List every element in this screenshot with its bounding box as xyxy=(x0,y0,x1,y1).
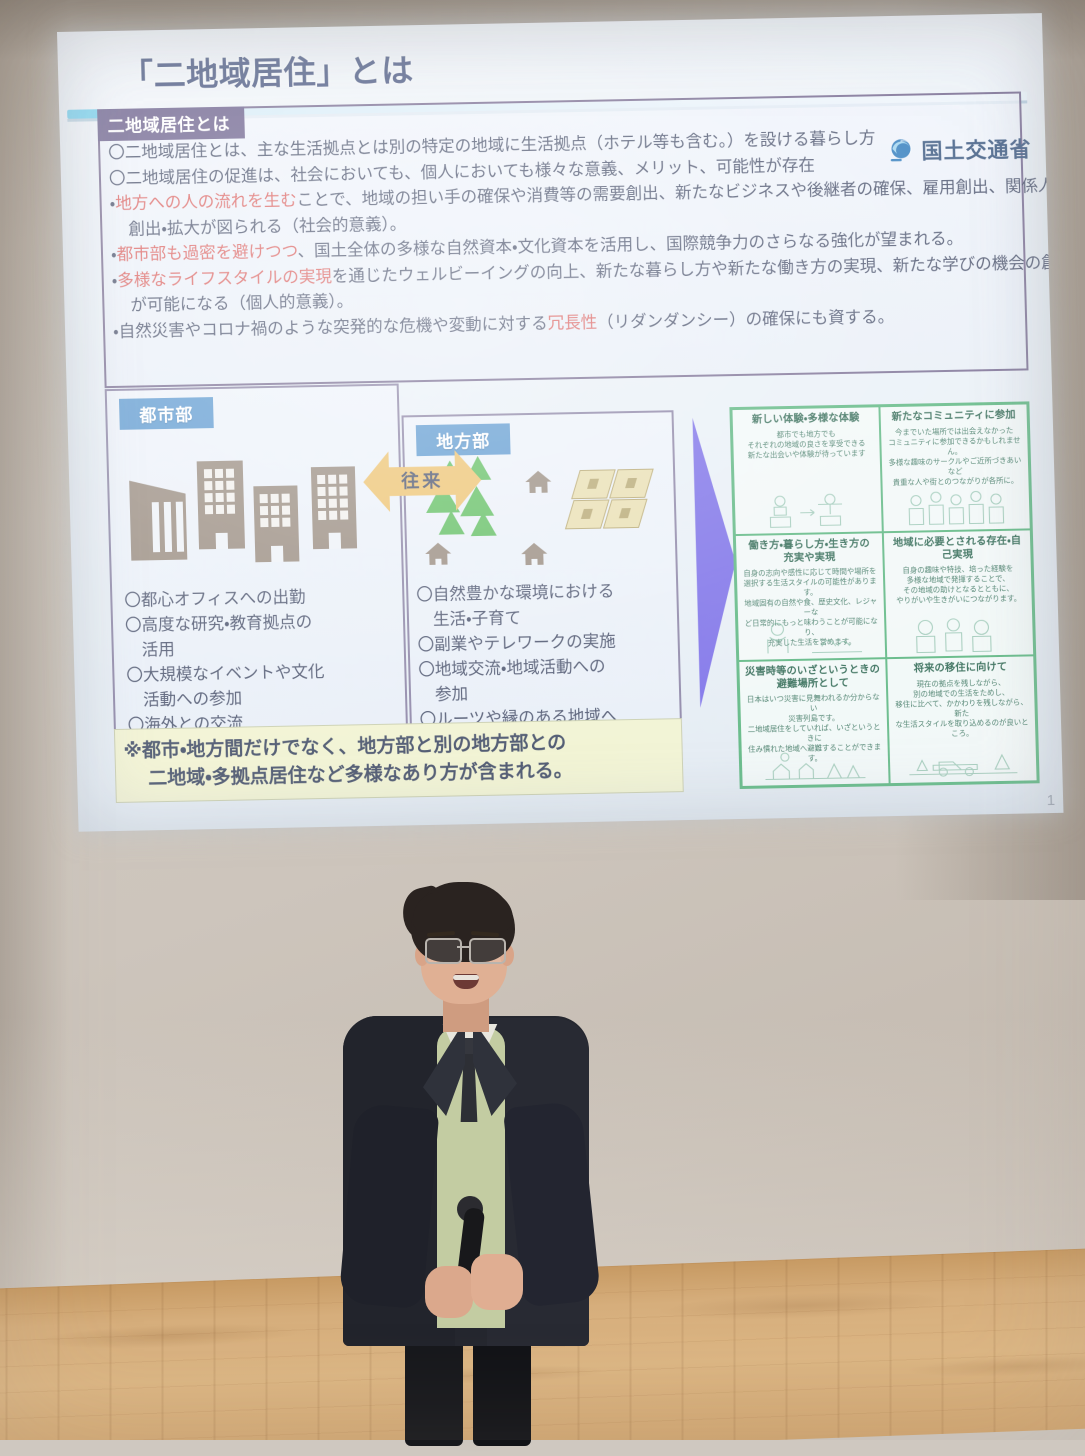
hand-left xyxy=(425,1266,473,1318)
benefit-cell-title: 地域に必要とされる存在・自己実現 xyxy=(888,535,1027,563)
hair-fringe xyxy=(413,892,513,932)
benefit-cell-body: 都市でも地方でもそれぞれの地域の良さを享受できる新たな出会いや体験が待っています xyxy=(737,428,876,461)
benefits-grid: 新しい体験・多様な体験都市でも地方でもそれぞれの地域の良さを享受できる新たな出会… xyxy=(729,401,1039,789)
car-countryside-icon xyxy=(889,738,1036,781)
benefit-cell-title: 新たなコミュニティに参加 xyxy=(885,410,1023,425)
definition-box-body: 〇二地域居住とは、主な生活拠点とは別の特定の地域に生活拠点（ホテル等も含む。）を… xyxy=(108,124,1018,345)
house-icon xyxy=(425,543,452,565)
ministry-name: 国土交通省 xyxy=(921,133,1032,165)
person-relaxing-icon xyxy=(738,615,885,658)
benefit-cell: 災害時等のいざというときの避難場所として日本はいつ災害に見舞われるか分からない災… xyxy=(738,658,889,787)
two-people-desk-icon xyxy=(735,489,882,532)
presenter-figure xyxy=(325,876,625,1436)
benefit-cell: 新たなコミュニティに参加今までいた場所では出会えなかったコミュニティに参加できる… xyxy=(879,403,1030,532)
highlighted-phrase: 地方への人の流れを生む xyxy=(115,191,297,212)
group-of-people-icon xyxy=(883,486,1030,529)
benefit-cell: 新しい体験・多様な体験都市でも地方でもそれぞれの地域の良さを享受できる新たな出会… xyxy=(731,406,882,535)
benefit-cell: 働き方・暮らし方・生き方の充実や実現自身の志向や感性に応じて時間や場所を選択する… xyxy=(735,532,886,661)
exchange-arrow: 往来 xyxy=(362,444,482,518)
page-number: 1 xyxy=(1047,792,1056,809)
benefit-cell-title: 新しい体験・多様な体験 xyxy=(737,412,875,427)
highlighted-phrase: 多様なライフスタイルの実現 xyxy=(117,267,332,289)
people-talking-icon xyxy=(886,612,1033,655)
benefit-cell-title: 災害時等のいざというときの避難場所として xyxy=(743,664,882,692)
note-box: ※都市・地方間だけでなく、地方部と別の地方部との二地域・多拠点居住など多様なあり… xyxy=(114,718,684,803)
benefit-cell-body: 今までいた場所では出会えなかったコミュニティに参加できるかもしれません。多様な趣… xyxy=(885,425,1025,488)
projected-slide: 「二地域居住」とは 国土交通省 二地域居住とは 〇二地域居住とは、主な生活拠点と… xyxy=(57,13,1063,832)
benefit-cell-body: 自身の趣味や特技、培った経験を多様な地域で発揮することで、その地域の助けとなると… xyxy=(889,563,1028,606)
glasses-bridge xyxy=(457,946,470,948)
definition-box-heading: 二地域居住とは xyxy=(97,106,244,141)
office-building-icon xyxy=(130,494,188,561)
glasses-lens-right xyxy=(469,938,506,964)
apartment-building-icon xyxy=(197,461,245,550)
arm-left xyxy=(338,1103,439,1310)
apartment-building-icon xyxy=(311,466,357,549)
highlighted-phrase: 冗長性 xyxy=(547,313,597,332)
highlighted-phrase: 都市部も過密を避けつつ xyxy=(116,242,297,263)
benefit-cell: 地域に必要とされる存在・自己実現自身の趣味や特技、培った経験を多様な地域で発揮す… xyxy=(883,529,1034,658)
slide-surface: 「二地域居住」とは 国土交通省 二地域居住とは 〇二地域居住とは、主な生活拠点と… xyxy=(57,13,1063,832)
exchange-arrow-label: 往来 xyxy=(363,466,482,494)
note-text: ※都市・地方間だけでなく、地方部と別の地方部との二地域・多拠点居住など多様なあり… xyxy=(115,729,573,794)
urban-panel-tag: 都市部 xyxy=(119,397,214,430)
urban-bullet-list: 〇都心オフィスへの出勤〇高度な研究・教育拠点の活用〇大規模なイベントや文化活動へ… xyxy=(124,584,400,739)
glasses-lens-left xyxy=(425,938,462,964)
benefit-cell-title: 働き方・暮らし方・生き方の充実や実現 xyxy=(740,538,879,566)
benefit-cell: 将来の移住に向けて現在の拠点を残しながら、別の地域での生活をためし、移住に比べて… xyxy=(886,655,1037,784)
house-icon xyxy=(525,471,552,493)
hand-right xyxy=(471,1254,523,1310)
house-icon xyxy=(521,543,548,565)
city-icon-group xyxy=(125,454,378,569)
slide-lower-section: 都市部 xyxy=(105,371,1036,809)
ministry-logo: 国土交通省 xyxy=(887,133,1032,166)
teeth xyxy=(453,975,479,980)
apartment-building-icon xyxy=(253,485,299,562)
ministry-swirl-icon xyxy=(887,137,915,165)
benefit-cell-body: 現在の拠点を残しながら、別の地域での生活をためし、移住に比べて、かかわりを残しな… xyxy=(892,677,1032,740)
benefit-cell-title: 将来の移住に向けて xyxy=(891,661,1029,676)
village-evacuation-icon xyxy=(742,741,889,784)
page-title: 「二地域居住」とは xyxy=(121,45,415,97)
